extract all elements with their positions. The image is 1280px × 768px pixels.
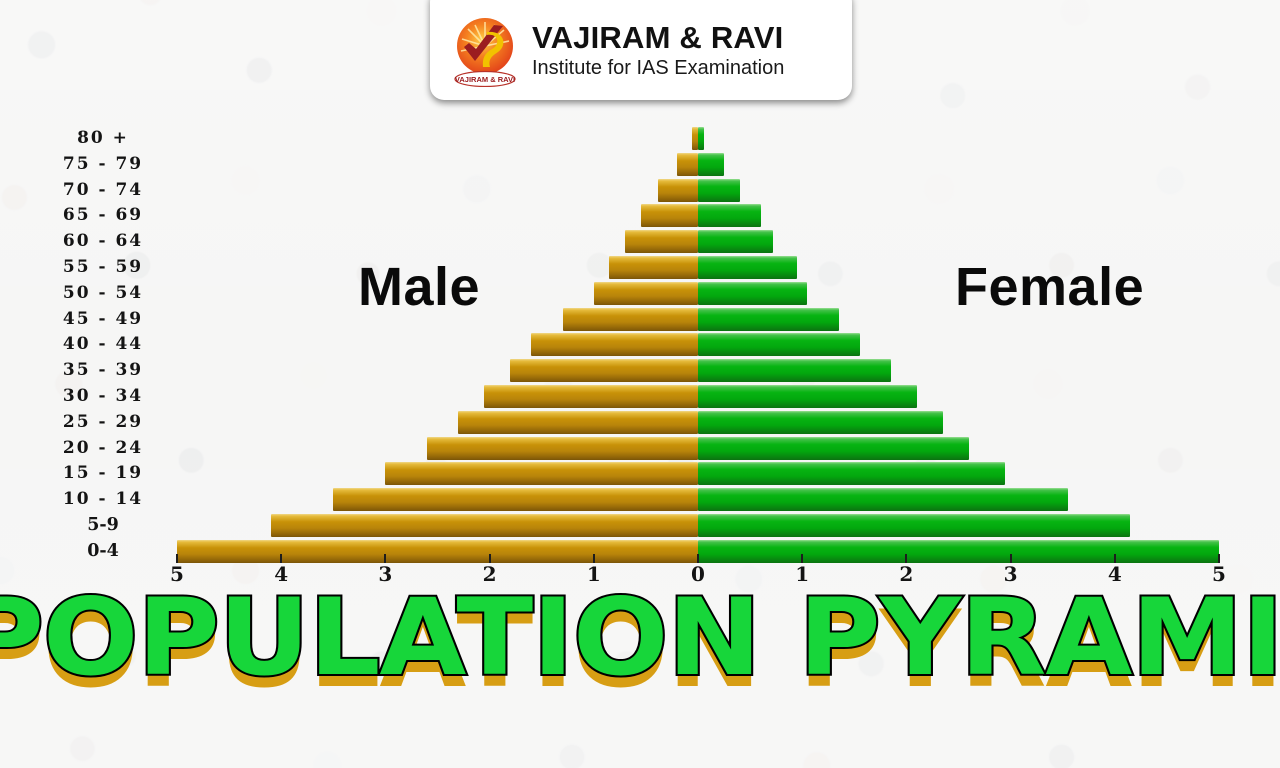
female-bar [698, 282, 807, 305]
pyramid-row [0, 178, 1280, 204]
female-bar [698, 437, 969, 460]
title-front-layer: POPULATION PYRAMID [0, 585, 1280, 691]
pyramid-row [0, 332, 1280, 358]
pyramid-row [0, 461, 1280, 487]
female-bar [698, 256, 797, 279]
pyramid-row [0, 203, 1280, 229]
male-bar [677, 153, 698, 176]
sun-tick-logo-icon: VAJIRAM & RAVI [448, 13, 522, 87]
female-bar [698, 127, 704, 150]
female-legend-label: Female [955, 256, 1144, 318]
female-bar [698, 462, 1005, 485]
male-bar [609, 256, 698, 279]
female-bar [698, 153, 724, 176]
brand-title: VAJIRAM & RAVI [532, 22, 784, 53]
female-bar [698, 179, 740, 202]
female-bar [698, 411, 943, 434]
pyramid-row [0, 487, 1280, 513]
pyramid-row [0, 436, 1280, 462]
female-bar [698, 488, 1068, 511]
male-bar [563, 308, 698, 331]
male-bar [625, 230, 698, 253]
male-bar [484, 385, 698, 408]
pyramid-row [0, 384, 1280, 410]
male-bar [641, 204, 698, 227]
pyramid-bars-area [0, 126, 1280, 565]
male-bar [658, 179, 698, 202]
brand-subtitle: Institute for IAS Examination [532, 58, 784, 78]
female-bar [698, 230, 773, 253]
male-legend-label: Male [358, 256, 480, 318]
male-bar [385, 462, 698, 485]
pyramid-row [0, 152, 1280, 178]
brand-logo-badge: VAJIRAM & RAVI VAJIRAM & RAVI Institute … [430, 0, 852, 100]
pyramid-row [0, 126, 1280, 152]
male-bar [458, 411, 698, 434]
male-bar [594, 282, 698, 305]
male-bar [333, 488, 698, 511]
page-title: POPULATION PYRAMID POPULATION PYRAMID PO… [0, 585, 1280, 691]
female-bar [698, 204, 761, 227]
female-bar [698, 514, 1130, 537]
male-bar [531, 333, 698, 356]
male-bar [271, 514, 698, 537]
female-bar [698, 308, 839, 331]
female-bar [698, 333, 860, 356]
population-pyramid-infographic: VAJIRAM & RAVI VAJIRAM & RAVI Institute … [0, 0, 1280, 768]
female-bar [698, 359, 891, 382]
pyramid-row [0, 358, 1280, 384]
pyramid-row [0, 513, 1280, 539]
pyramid-row [0, 229, 1280, 255]
female-bar [698, 385, 917, 408]
pyramid-row [0, 410, 1280, 436]
male-bar [510, 359, 698, 382]
brand-text-block: VAJIRAM & RAVI Institute for IAS Examina… [532, 22, 784, 78]
logo-ribbon-text: VAJIRAM & RAVI [455, 75, 515, 84]
male-bar [427, 437, 698, 460]
